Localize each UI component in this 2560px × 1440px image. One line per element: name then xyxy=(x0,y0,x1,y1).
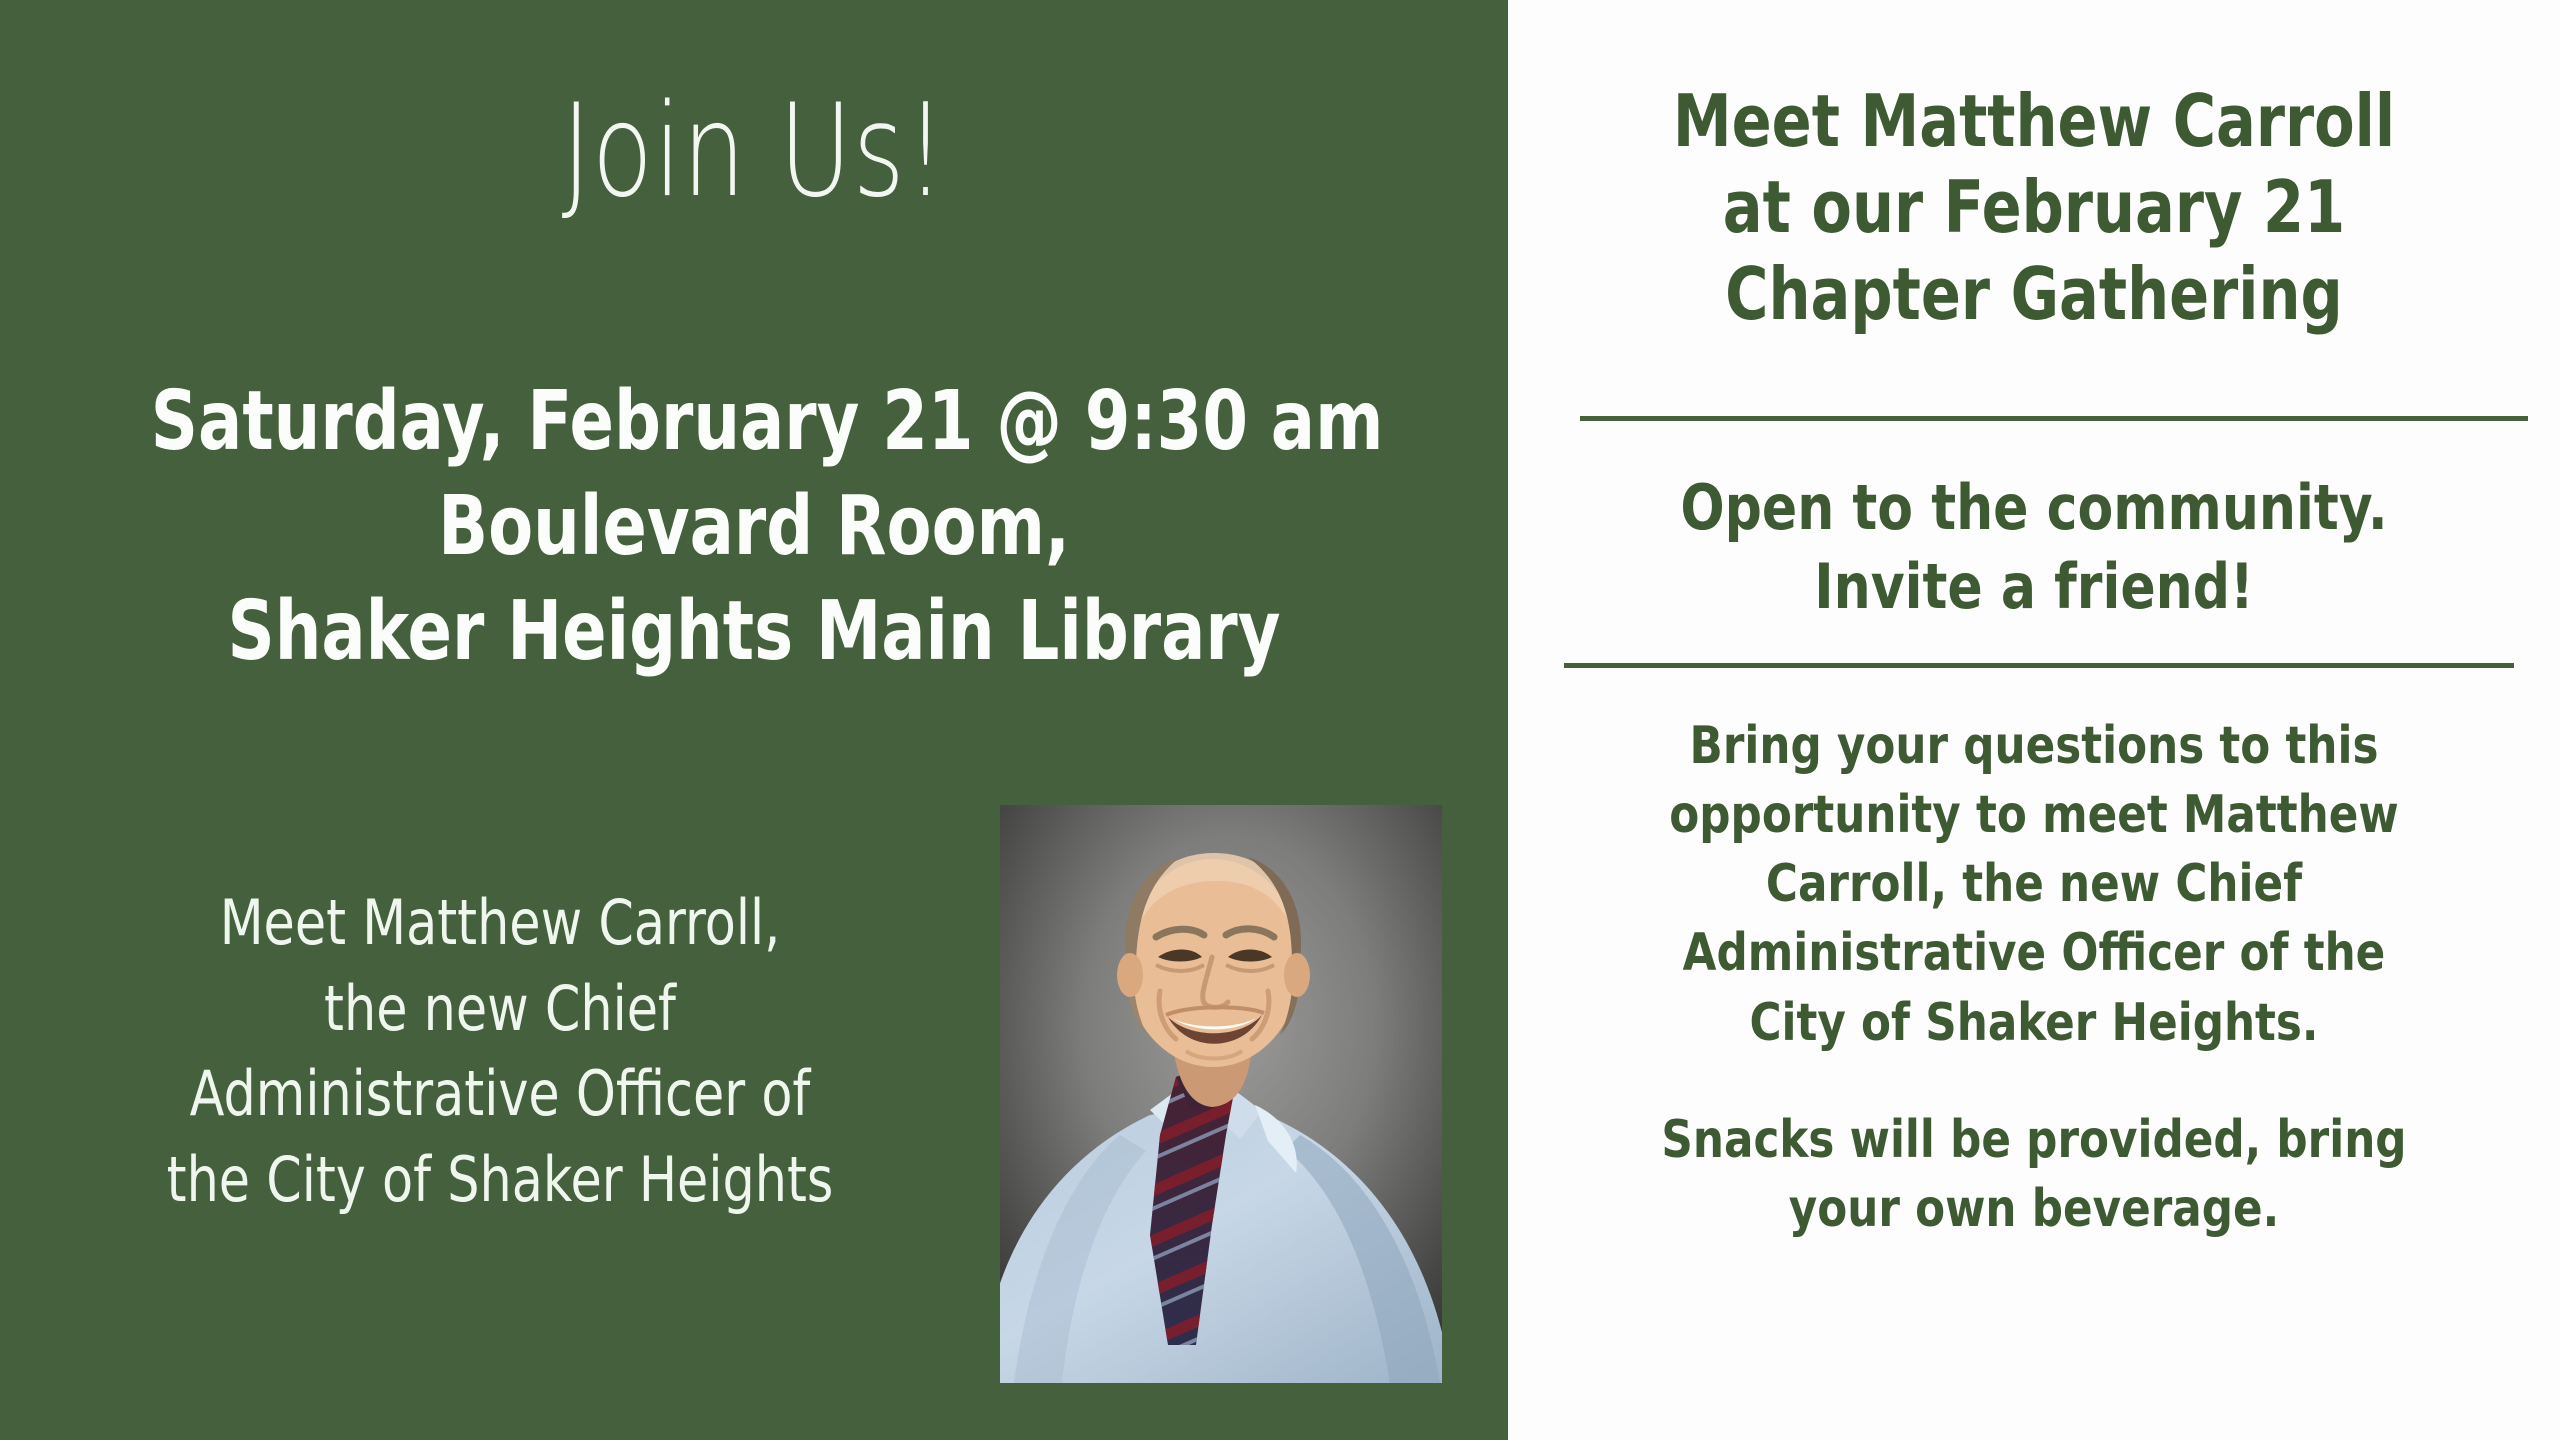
subhead-line-1: Open to the community. xyxy=(1609,468,2459,547)
right-heading: Meet Matthew Carroll at our February 21 … xyxy=(1619,78,2449,337)
event-room-line: Boulevard Room, xyxy=(151,475,1357,580)
event-venue-line: Shaker Heights Main Library xyxy=(151,580,1357,685)
note-line-2: your own beverage. xyxy=(1626,1175,2442,1244)
heading-line-1: Meet Matthew Carroll xyxy=(1619,78,2449,164)
event-details: Saturday, February 21 @ 9:30 am Boulevar… xyxy=(151,370,1357,685)
divider-rule-bottom xyxy=(1564,663,2514,668)
caption-line-4: the City of Shaker Heights xyxy=(123,1137,877,1223)
right-body-paragraph: Bring your questions to this opportunity… xyxy=(1626,712,2442,1058)
body-line-4: Administrative Officer of the xyxy=(1626,919,2442,988)
right-snacks-note: Snacks will be provided, bring your own … xyxy=(1626,1106,2442,1244)
caption-line-2: the new Chief xyxy=(123,966,877,1052)
heading-line-3: Chapter Gathering xyxy=(1619,251,2449,337)
matthew-carroll-portrait-photo xyxy=(1000,805,1442,1383)
right-subhead: Open to the community. Invite a friend! xyxy=(1609,468,2459,627)
body-line-2: opportunity to meet Matthew xyxy=(1626,781,2442,850)
caption-line-1: Meet Matthew Carroll, xyxy=(123,880,877,966)
join-us-title: Join Us! xyxy=(166,88,1342,216)
heading-line-2: at our February 21 xyxy=(1619,164,2449,250)
event-flyer: Join Us! Saturday, February 21 @ 9:30 am… xyxy=(0,0,2560,1440)
body-line-3: Carroll, the new Chief xyxy=(1626,850,2442,919)
body-line-1: Bring your questions to this xyxy=(1626,712,2442,781)
left-green-panel: Join Us! Saturday, February 21 @ 9:30 am… xyxy=(0,0,1508,1440)
portrait-caption: Meet Matthew Carroll, the new Chief Admi… xyxy=(123,880,877,1222)
right-white-panel: Meet Matthew Carroll at our February 21 … xyxy=(1508,0,2560,1440)
divider-rule-top xyxy=(1580,416,2528,421)
subhead-line-2: Invite a friend! xyxy=(1609,547,2459,626)
caption-line-3: Administrative Officer of xyxy=(123,1051,877,1137)
event-datetime-line: Saturday, February 21 @ 9:30 am xyxy=(151,370,1357,475)
body-line-5: City of Shaker Heights. xyxy=(1626,989,2442,1058)
note-line-1: Snacks will be provided, bring xyxy=(1626,1106,2442,1175)
